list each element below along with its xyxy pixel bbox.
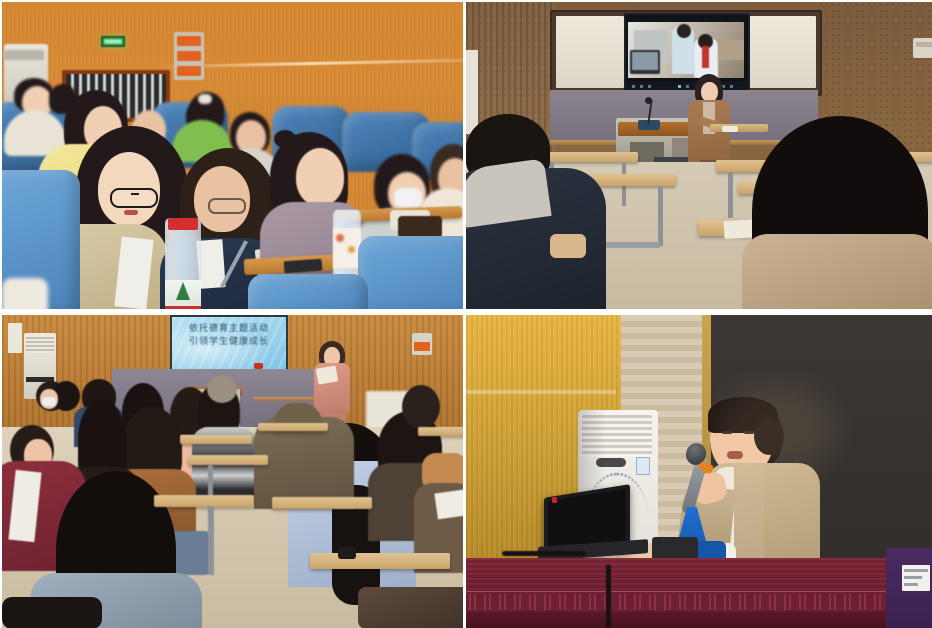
paper-sheet: [2, 278, 48, 309]
seat-front-right: [358, 236, 463, 309]
podium-desk-base: [466, 611, 932, 628]
wall-device-slot: [916, 42, 932, 47]
bottle-label-flower-1: [336, 234, 344, 242]
whiteboard-left: [556, 16, 624, 88]
wall-device: [913, 38, 932, 58]
whiteboard-right: [748, 16, 816, 88]
interactive-display[interactable]: [624, 13, 750, 93]
audience-head-right-2: [402, 385, 440, 429]
wall-notice-1: [177, 36, 201, 46]
video-person-1-head: [677, 24, 691, 38]
student-desk-1: [538, 152, 638, 162]
audience-papers-right: [434, 489, 463, 520]
dark-bag: [398, 216, 442, 238]
podium-desk-pattern: [466, 594, 932, 610]
cable-2: [606, 565, 611, 628]
wall-notice-board: [174, 32, 204, 80]
eyeglasses: [110, 188, 158, 208]
lectern-microphone-head: [645, 97, 652, 104]
papers-on-table: [722, 126, 738, 132]
rear-desk-2: [188, 455, 268, 465]
bottle-cap-1: [168, 218, 198, 230]
wall-poster: [8, 323, 22, 353]
laptop-logo: [552, 497, 557, 503]
front-desk-right: [310, 553, 450, 569]
bottle-label-flower-2: [348, 246, 355, 253]
bag-on-desk: [358, 587, 463, 628]
seat-front-center: [248, 274, 368, 309]
rear-desk-5: [418, 427, 463, 436]
cable-1: [502, 551, 586, 556]
eyeglasses-2: [208, 198, 246, 214]
audience-head-short: [207, 375, 237, 403]
audience-hood: [274, 403, 322, 437]
eyeglasses-bridge: [131, 193, 139, 195]
rear-desk-leg-2: [208, 507, 214, 575]
video-monitor-screen: [632, 52, 658, 70]
desk-leg-5: [728, 172, 733, 218]
photo-bottom-right[interactable]: [466, 315, 932, 628]
photo-top-right[interactable]: [466, 2, 932, 309]
rear-desk-1: [180, 435, 252, 444]
student-left-hood: [466, 158, 552, 227]
student-left-hand: [550, 234, 586, 258]
video-counter: [718, 40, 744, 60]
hair-bun: [274, 130, 296, 148]
display-top-bar: [628, 17, 744, 22]
rear-desk-3: [154, 495, 254, 507]
student-face-3: [296, 148, 344, 206]
projection-screen: 依托德育主题活动 引领学生健康成长: [170, 315, 288, 373]
bottle-cap-2: [335, 210, 359, 219]
face-mask: [394, 188, 422, 208]
audience-mask-r1: [42, 397, 56, 406]
rear-desk-4: [258, 423, 328, 431]
air-conditioner-vent: [4, 50, 44, 60]
rear-desk-6: [272, 497, 372, 509]
podium-desk-grain: [466, 558, 932, 592]
lips: [124, 210, 138, 215]
air-conditioner-grille: [26, 337, 54, 353]
wall-notice-2: [177, 51, 201, 61]
light-glow: [716, 385, 836, 475]
bottle-label-band: [165, 306, 201, 309]
red-indicator: [254, 363, 263, 369]
speaker-lapel: [734, 465, 764, 561]
exit-sign: [101, 36, 125, 47]
name-card: [902, 565, 930, 591]
presenter-face: [701, 82, 718, 102]
photo-collage: 依托德育主题活动 引领学生健康成长: [0, 0, 932, 626]
desk-item-dark: [338, 547, 356, 559]
wall-trim-line: [466, 390, 616, 394]
photo-top-left[interactable]: [2, 2, 463, 309]
door-frame: [466, 50, 478, 134]
video-person-2-scarf: [702, 46, 709, 68]
speaker-papers: [316, 365, 338, 384]
display-video-content: [628, 22, 744, 78]
student-right-shoulders: [742, 234, 932, 309]
foreground-dark-object: [2, 597, 102, 628]
slide-text-line-1: 依托德育主题活动: [178, 323, 280, 336]
slide-text-line-2: 引领学生健康成长: [178, 336, 280, 349]
hair-clip: [198, 94, 212, 104]
wall-notice-3: [177, 66, 201, 76]
wall-exit-notice: [412, 333, 432, 355]
desk-leg-4: [658, 186, 663, 246]
photo-bottom-left[interactable]: 依托德育主题活动 引领学生健康成长: [2, 315, 463, 628]
side-table-top: [710, 124, 768, 132]
